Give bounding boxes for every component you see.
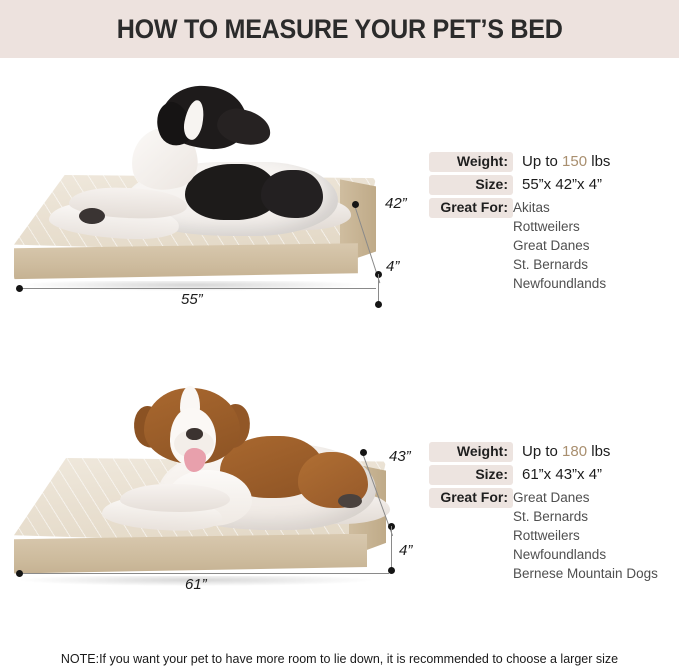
dimension-line-height	[378, 274, 379, 304]
spec-row-great-for: Great For: Great Danes St. Bernards Rott…	[429, 488, 679, 583]
bed-illustration-xlarge: 43” 4” 61”	[0, 370, 420, 620]
dimension-endpoint-dot	[16, 285, 23, 292]
breed-item: St. Bernards	[513, 255, 606, 274]
bed-illustration-large: 42” 4” 55”	[0, 70, 420, 320]
dimension-endpoint-dot	[360, 449, 367, 456]
product-section-bed-large: 42” 4” 55” Weight: Up to 150 lbs Size: 5…	[0, 70, 679, 320]
dog-front-leg	[120, 484, 230, 512]
dog-coat-patch	[261, 170, 323, 218]
product-section-bed-xlarge: 43” 4” 61” Weight: Up to 180 lbs Size: 6…	[0, 370, 679, 620]
breed-list: Akitas Rottweilers Great Danes St. Berna…	[513, 198, 606, 293]
spec-label-great-for: Great For:	[429, 488, 513, 508]
weight-unit: lbs	[591, 443, 610, 460]
dimension-label-length: 55”	[181, 291, 203, 308]
breed-list: Great Danes St. Bernards Rottweilers New…	[513, 488, 658, 583]
spec-label-great-for: Great For:	[429, 198, 513, 218]
spec-label-size: Size:	[429, 465, 513, 485]
spec-panel-bed-xlarge: Weight: Up to 180 lbs Size: 61”x 43”x 4”…	[429, 442, 679, 586]
dimension-label-width: 42”	[385, 195, 407, 212]
footer-note: NOTE:If you want your pet to have more r…	[0, 652, 679, 666]
dimension-endpoint-dot	[352, 201, 359, 208]
breed-item: Newfoundlands	[513, 274, 606, 293]
dog-paw-spot	[338, 494, 362, 508]
weight-number: 150	[562, 153, 587, 170]
breed-item: St. Bernards	[513, 507, 658, 526]
spec-value-weight: Up to 150 lbs	[513, 152, 610, 172]
spec-label-weight: Weight:	[429, 442, 513, 462]
spec-panel-bed-large: Weight: Up to 150 lbs Size: 55”x 42”x 4”…	[429, 152, 679, 296]
breed-item: Rottweilers	[513, 217, 606, 236]
dimension-endpoint-dot	[375, 301, 382, 308]
dimension-label-height: 4”	[399, 542, 412, 559]
bed-shadow	[21, 281, 361, 291]
dimension-label-width: 43”	[389, 448, 411, 465]
spec-label-weight: Weight:	[429, 152, 513, 172]
dimension-endpoint-dot	[16, 570, 23, 577]
breed-item: Newfoundlands	[513, 545, 658, 564]
spec-row-size: Size: 61”x 43”x 4”	[429, 465, 679, 485]
breed-item: Great Danes	[513, 488, 658, 507]
header-banner: HOW TO MEASURE YOUR PET’S BED	[0, 0, 679, 58]
weight-unit: lbs	[591, 153, 610, 170]
dimension-line-length	[20, 288, 376, 289]
spec-row-size: Size: 55”x 42”x 4”	[429, 175, 679, 195]
page-title: HOW TO MEASURE YOUR PET’S BED	[117, 14, 563, 45]
breed-item: Bernese Mountain Dogs	[513, 564, 658, 583]
dimension-line-length	[20, 573, 389, 574]
breed-item: Rottweilers	[513, 526, 658, 545]
dimension-endpoint-dot	[388, 567, 395, 574]
breed-item: Great Danes	[513, 236, 606, 255]
dimension-label-height: 4”	[386, 258, 399, 275]
weight-prefix: Up to	[522, 443, 558, 460]
dimension-line-height	[391, 526, 392, 570]
spec-value-size: 61”x 43”x 4”	[513, 465, 602, 485]
spec-row-weight: Weight: Up to 180 lbs	[429, 442, 679, 462]
dog-nose	[186, 428, 203, 440]
spec-row-great-for: Great For: Akitas Rottweilers Great Dane…	[429, 198, 679, 293]
spec-label-size: Size:	[429, 175, 513, 195]
spec-value-weight: Up to 180 lbs	[513, 442, 610, 462]
weight-prefix: Up to	[522, 153, 558, 170]
dog-paw-spot	[79, 208, 105, 224]
weight-number: 180	[562, 443, 587, 460]
dog-st-bernard	[92, 374, 392, 554]
spec-row-weight: Weight: Up to 150 lbs	[429, 152, 679, 172]
breed-item: Akitas	[513, 198, 606, 217]
spec-value-size: 55”x 42”x 4”	[513, 175, 602, 195]
dog-great-dane	[35, 84, 355, 254]
dimension-label-length: 61”	[185, 576, 207, 593]
